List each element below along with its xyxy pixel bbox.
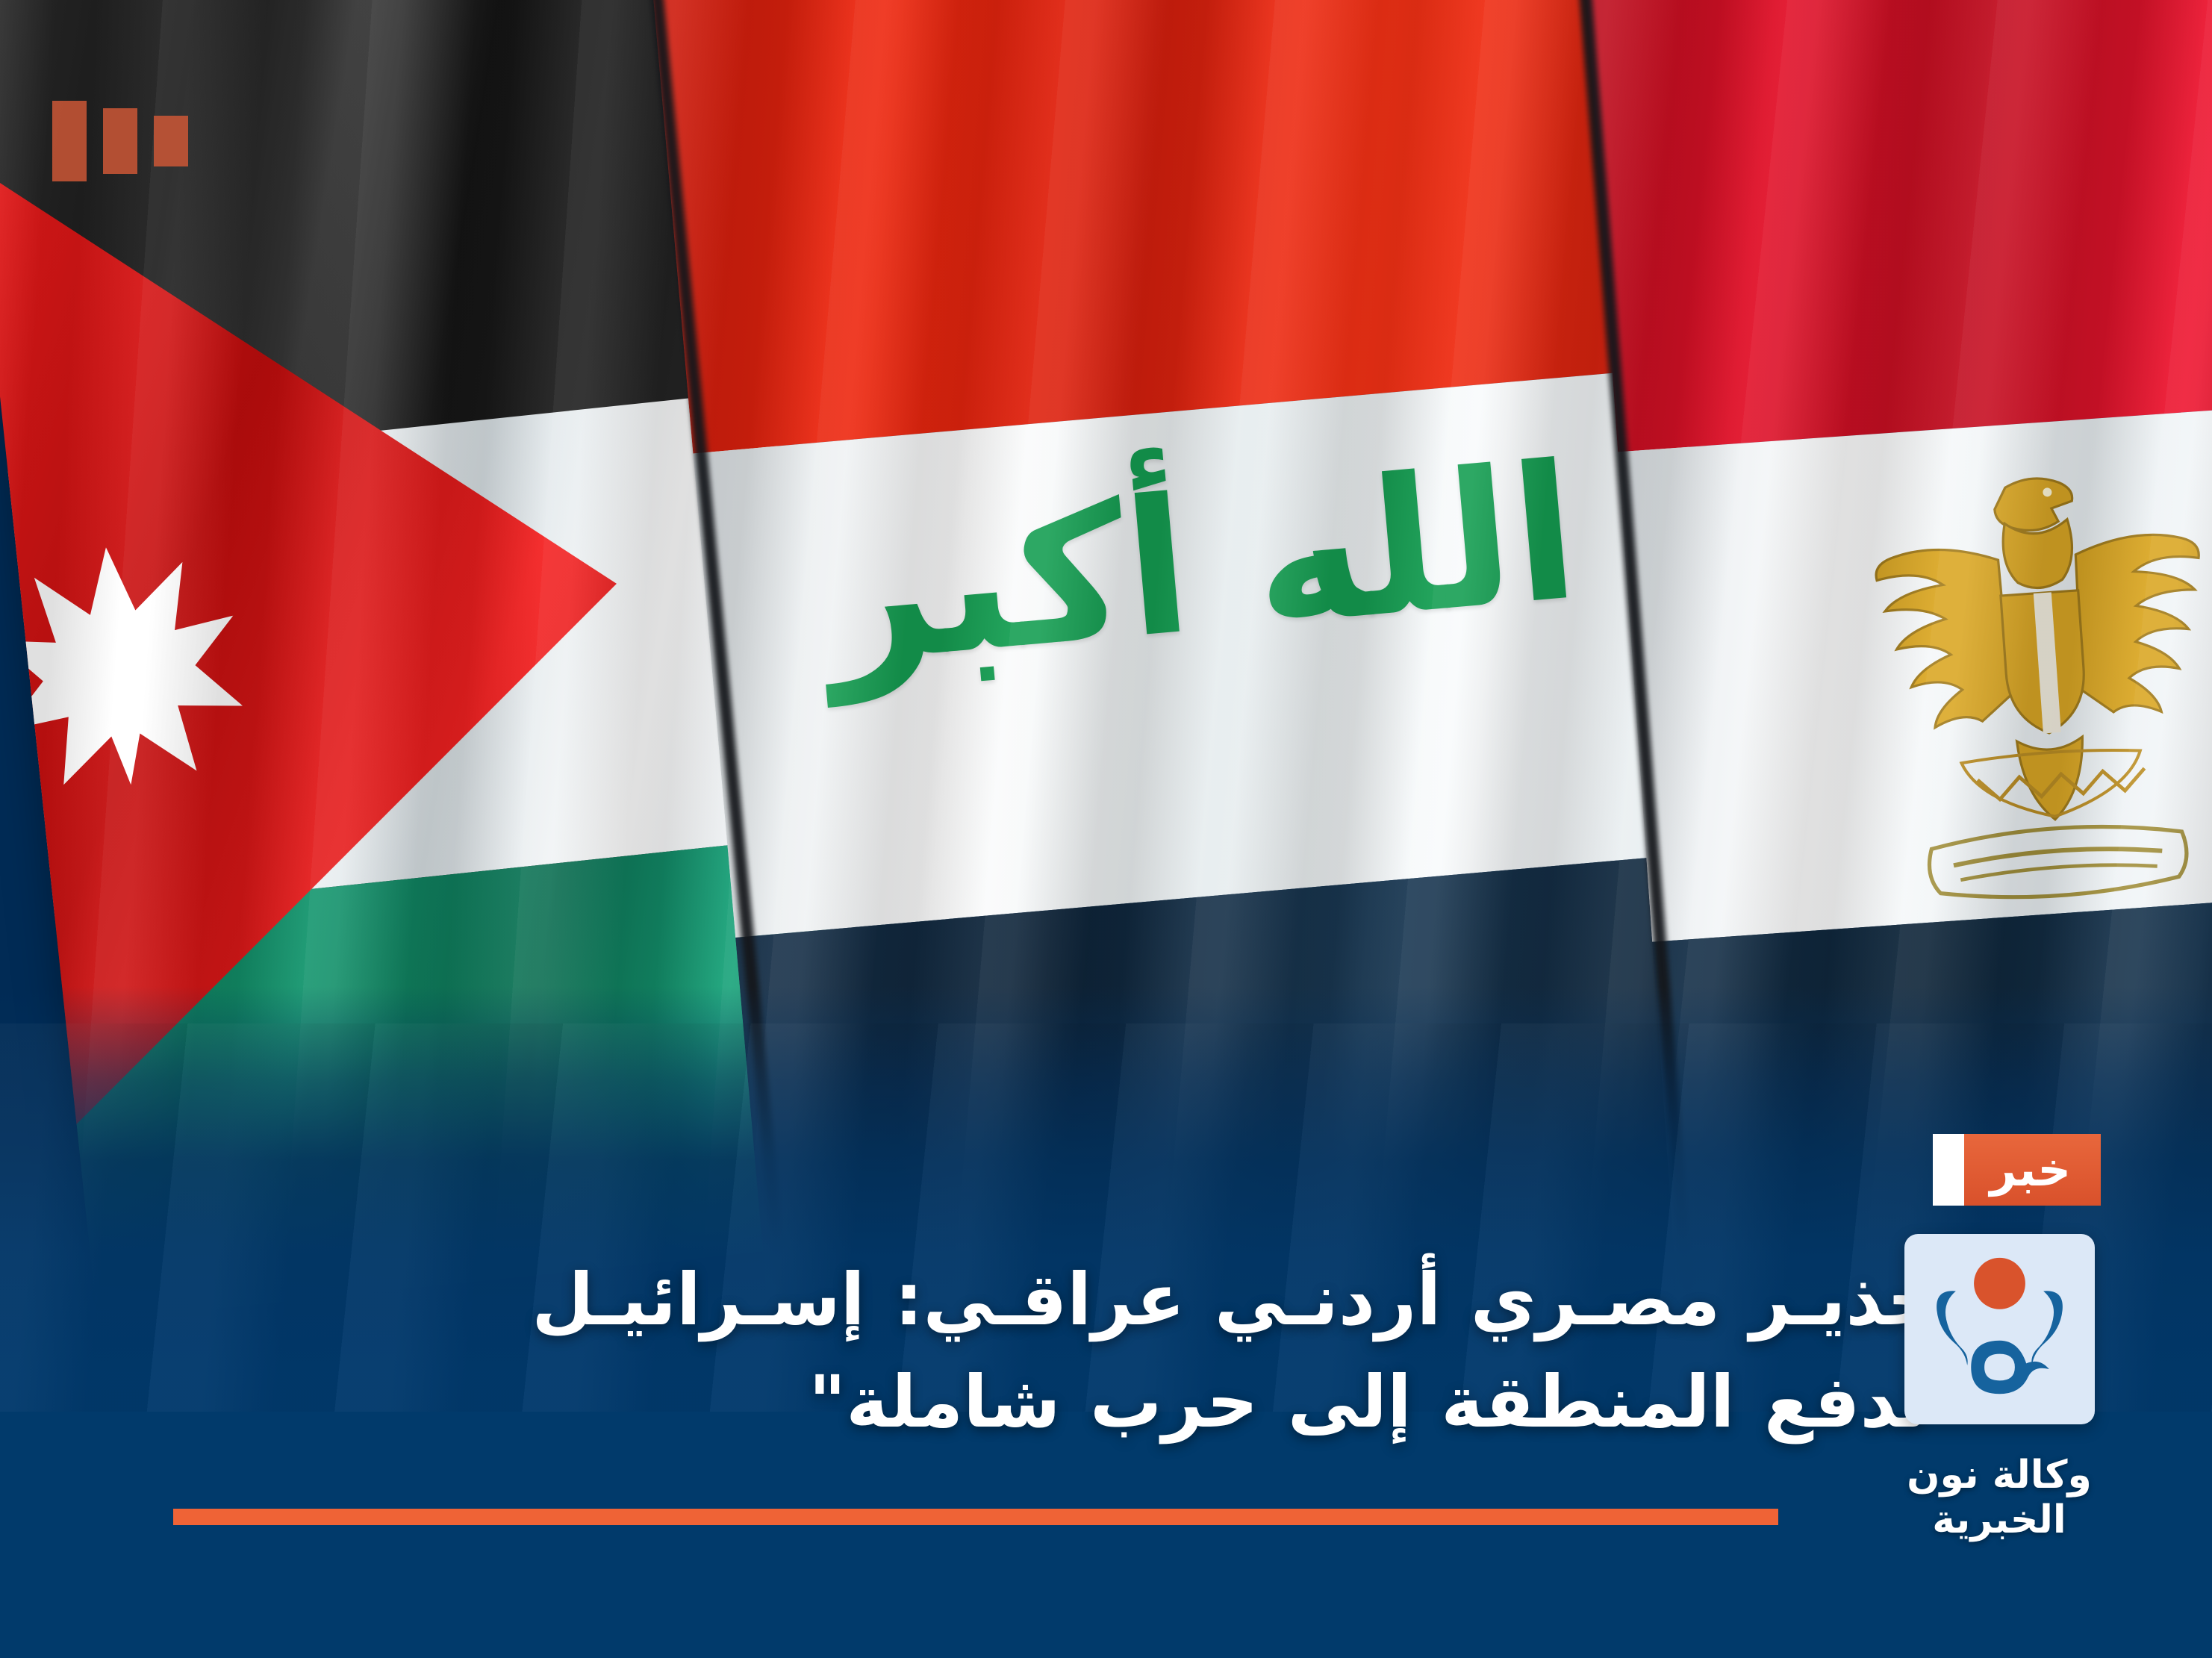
corner-bar-3 [154,116,188,166]
logo-left-arm [1937,1291,1968,1365]
corner-decoration-bars [52,101,188,181]
eagle-of-saladin-emblem [1836,452,2212,941]
agency-name: وكالة نون الخبرية [1850,1453,2149,1542]
agency-logo-tile [1904,1234,2095,1424]
logo-right-arm [2031,1291,2063,1365]
category-badge-row: خبر [1850,1134,2149,1206]
orange-divider-rule [173,1509,1778,1525]
logo-head-circle [1974,1258,2025,1309]
corner-bar-1 [52,101,87,181]
headline-line-1: تحذيـر مصـري أردنـي عراقـي: إسـرائيـل [127,1249,1966,1350]
news-card: الله أكبر [0,0,2212,1658]
corner-bar-2 [103,108,137,174]
category-badge: خبر [1964,1134,2101,1206]
noon-news-agency-logo-icon [1904,1234,2095,1424]
headline-block: تحذيـر مصـري أردنـي عراقـي: إسـرائيـل "ت… [127,1249,1966,1453]
headline-line-2: "تدفع المنطقة إلى حرب شاملة" [127,1351,1966,1453]
brand-cluster: خبر وكالة نون الخبرية [1850,1134,2149,1542]
category-badge-white-cap [1933,1134,1964,1206]
egypt-red-stripe [1583,0,2212,452]
